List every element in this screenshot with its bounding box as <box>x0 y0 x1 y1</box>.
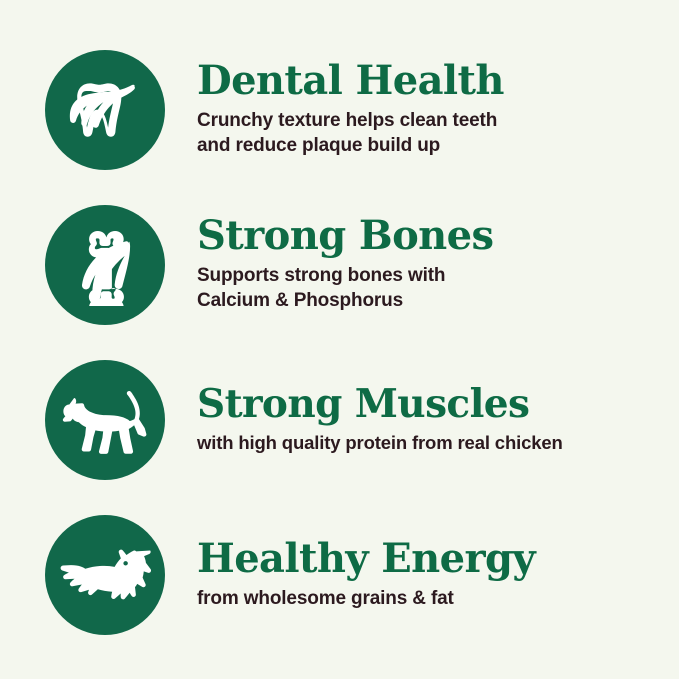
benefit-row: Strong Muscles with high quality protein… <box>0 355 679 485</box>
tooth-leaf-icon <box>64 69 146 151</box>
benefit-row: Healthy Energy from wholesome grains & f… <box>0 510 679 640</box>
benefit-description: from wholesome grains & fat <box>197 586 535 611</box>
benefit-icon-badge <box>45 50 165 170</box>
benefit-description: with high quality protein from real chic… <box>197 431 563 456</box>
leaping-dog-icon <box>55 525 155 625</box>
benefit-icon-badge <box>45 515 165 635</box>
benefit-description: Supports strong bones with Calcium & Pho… <box>197 263 493 314</box>
benefit-text: Strong Bones Supports strong bones with … <box>197 216 493 313</box>
benefit-text: Healthy Energy from wholesome grains & f… <box>197 539 535 611</box>
benefit-title: Strong Bones <box>197 216 493 257</box>
benefit-row: Strong Bones Supports strong bones with … <box>0 200 679 330</box>
benefit-text: Dental Health Crunchy texture helps clea… <box>197 61 504 158</box>
benefits-panel: Dental Health Crunchy texture helps clea… <box>0 0 679 679</box>
standing-dog-icon <box>59 374 151 466</box>
benefit-row: Dental Health Crunchy texture helps clea… <box>0 45 679 175</box>
benefit-title: Dental Health <box>197 61 504 102</box>
benefit-title: Strong Muscles <box>197 385 563 425</box>
benefit-title: Healthy Energy <box>197 539 535 580</box>
benefit-icon-badge <box>45 360 165 480</box>
benefit-description: Crunchy texture helps clean teeth and re… <box>197 108 504 159</box>
benefit-icon-badge <box>45 205 165 325</box>
benefit-text: Strong Muscles with high quality protein… <box>197 385 563 455</box>
bone-leaf-icon <box>64 224 146 306</box>
